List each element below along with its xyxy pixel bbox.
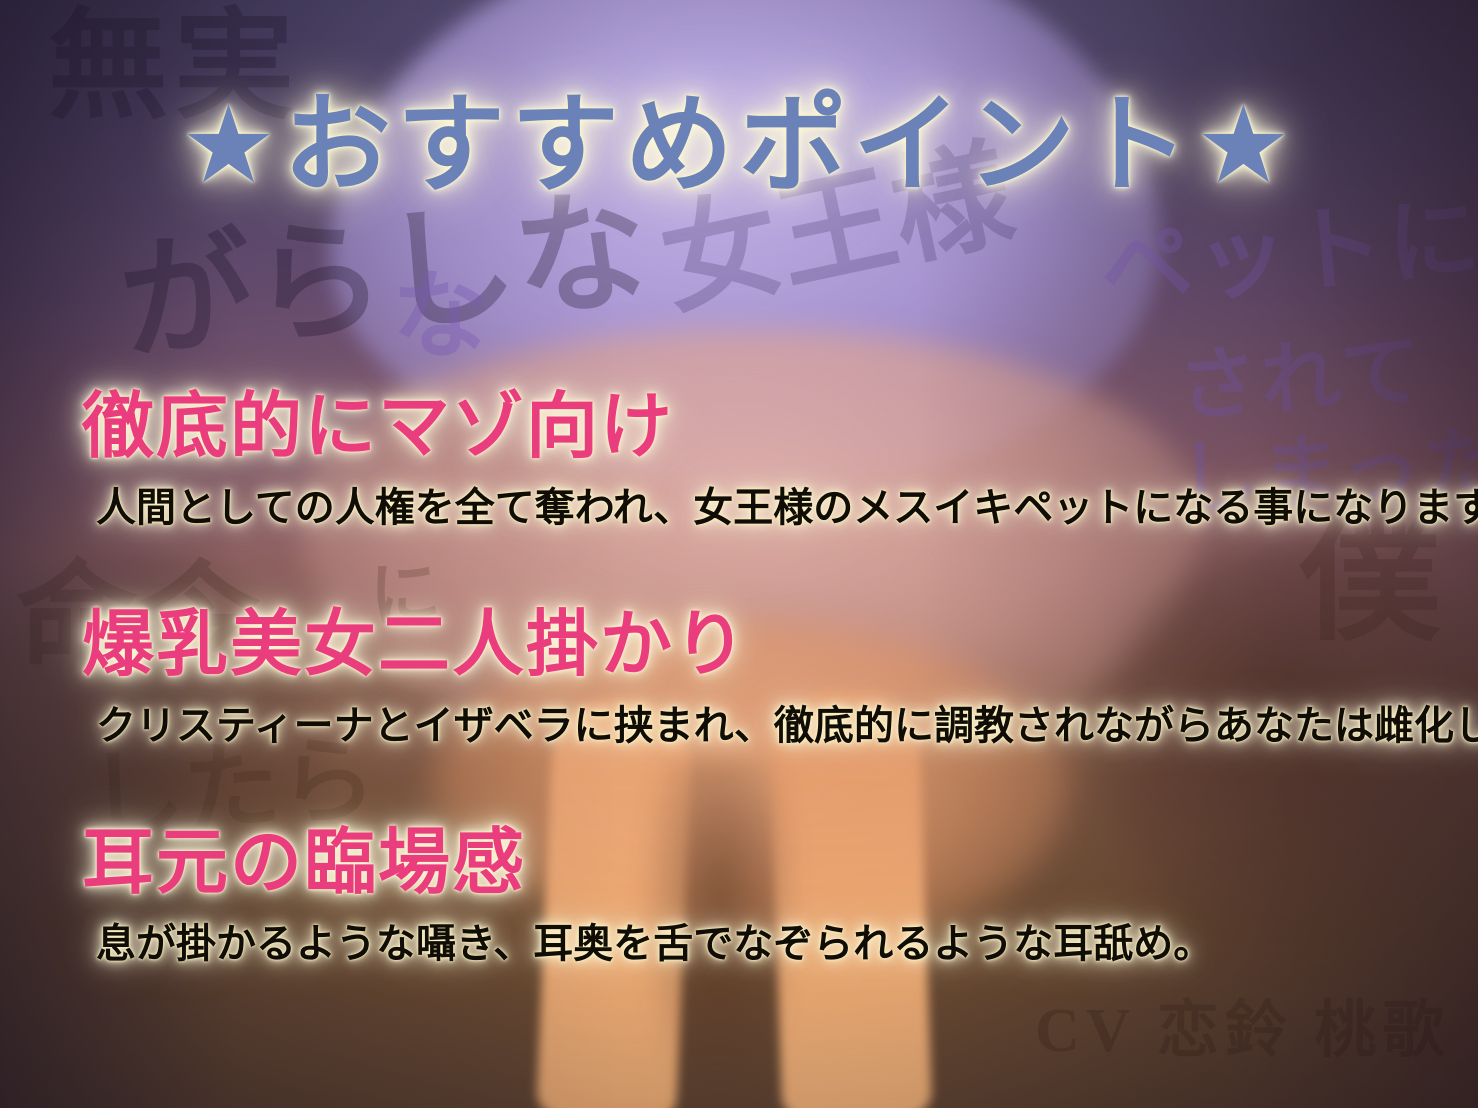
page-title: ★おすすめポイント★ bbox=[0, 88, 1478, 205]
point-block-2: 爆乳美女二人掛かり クリスティーナとイザベラに挟まれ、徹底的に調教されながらあな… bbox=[82, 606, 1478, 750]
point-body-1: 人間としての人権を全て奪われ、女王様のメスイキペットになる事になります。 bbox=[96, 484, 1478, 532]
promo-banner: 無実 女王様 がらしな な ペットに されて しまった 僕 命令 したら に C… bbox=[0, 0, 1478, 1108]
point-block-3: 耳元の臨場感 息が掛かるような囁き、耳奥を舌でなぞられるような耳舐め。 bbox=[82, 824, 1213, 968]
content-layer: ★おすすめポイント★ 徹底的にマゾ向け 人間としての人権を全て奪われ、女王様のメ… bbox=[0, 0, 1478, 1108]
point-body-2: クリスティーナとイザベラに挟まれ、徹底的に調教されながらあなたは雌化します。 bbox=[96, 702, 1478, 750]
point-block-1: 徹底的にマゾ向け 人間としての人権を全て奪われ、女王様のメスイキペットになる事に… bbox=[82, 388, 1478, 532]
point-heading-2: 爆乳美女二人掛かり bbox=[82, 606, 1478, 682]
point-heading-1: 徹底的にマゾ向け bbox=[82, 388, 1478, 464]
point-heading-3: 耳元の臨場感 bbox=[82, 824, 1213, 900]
point-body-3: 息が掛かるような囁き、耳奥を舌でなぞられるような耳舐め。 bbox=[96, 920, 1213, 968]
